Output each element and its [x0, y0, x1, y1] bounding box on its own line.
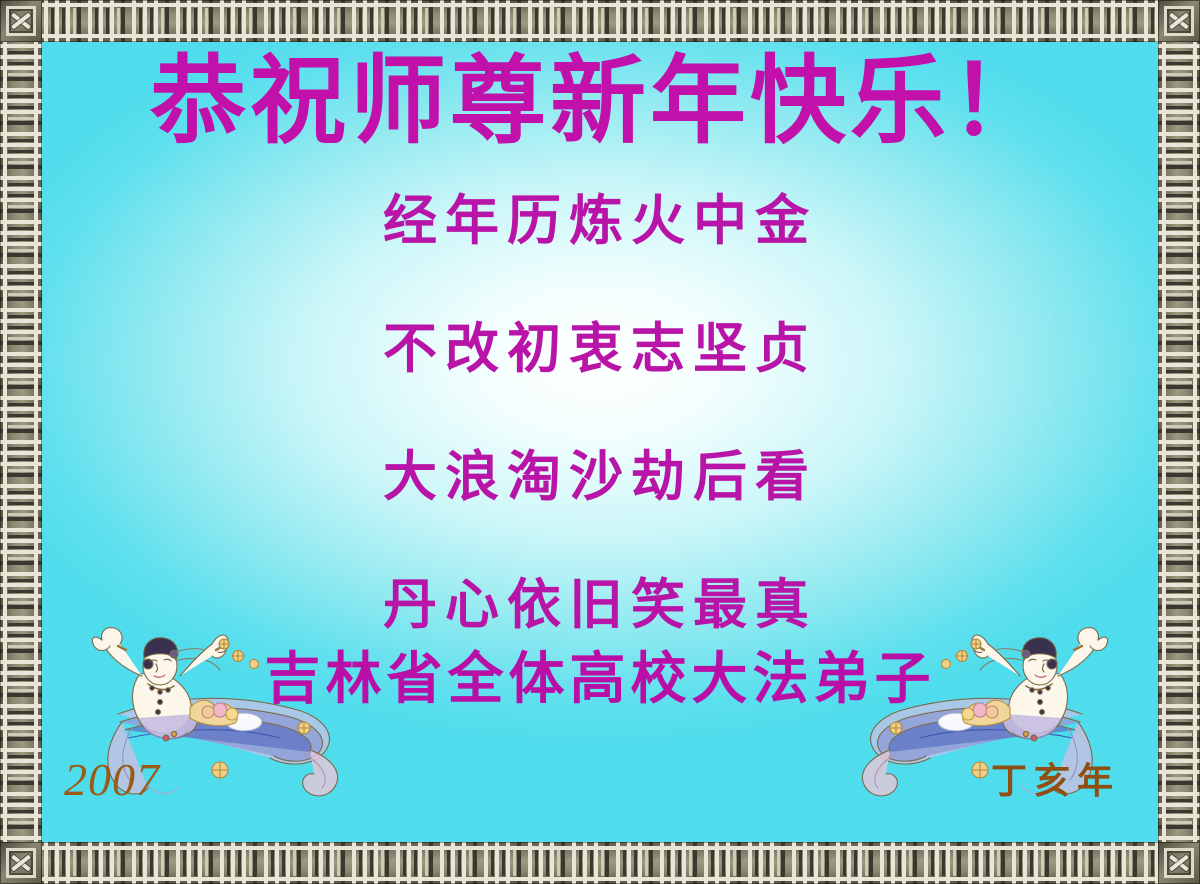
poem-line-1: 经年历炼火中金 [42, 194, 1158, 248]
greeting-title: 恭祝师尊新年快乐！ [42, 48, 1158, 156]
year-lunar-label: 丁亥年 [991, 752, 1120, 804]
poem-line-3: 大浪淘沙劫后看 [42, 450, 1158, 504]
card-canvas: 恭祝师尊新年快乐！ 经年历炼火中金 不改初衷志坚贞 大浪淘沙劫后看 丹心依旧笑最… [42, 42, 1158, 842]
corner-cross-ornament-top-right [1158, 0, 1200, 42]
corner-cross-ornament-bottom-right [1158, 842, 1200, 884]
border-meander-top [0, 0, 1200, 42]
border-meander-left [0, 0, 42, 884]
new-year-greeting-card: 恭祝师尊新年快乐！ 经年历炼火中金 不改初衷志坚贞 大浪淘沙劫后看 丹心依旧笑最… [0, 0, 1200, 884]
poem-line-2: 不改初衷志坚贞 [42, 322, 1158, 376]
signature-line: 吉林省全体高校大法弟子 [42, 652, 1158, 708]
corner-cross-ornament-top-left [0, 0, 42, 42]
border-meander-bottom [0, 842, 1200, 884]
poem-block: 经年历炼火中金 不改初衷志坚贞 大浪淘沙劫后看 丹心依旧笑最真 [42, 194, 1158, 632]
corner-cross-ornament-bottom-left [0, 842, 42, 884]
border-meander-right [1158, 0, 1200, 884]
year-western-label: 2007 [64, 753, 160, 806]
